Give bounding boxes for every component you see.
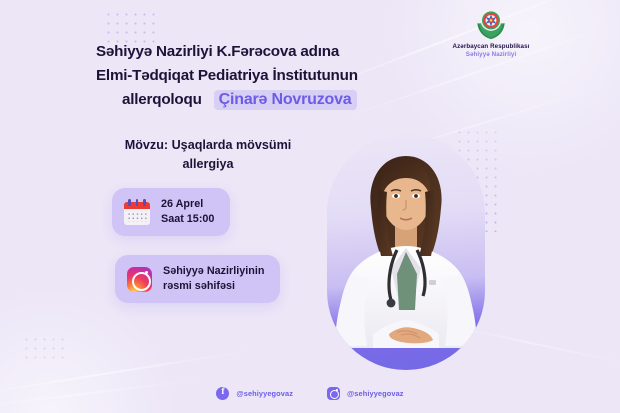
social-footer: @sehiyyegovaz @sehiyyegovaz (0, 387, 620, 400)
facebook-handle: @sehiyyegovaz (236, 389, 293, 398)
portrait-frame (327, 134, 485, 370)
facebook-icon (216, 387, 229, 400)
headline-line3-row: allerqoloquÇinarə Novruzova (96, 88, 426, 112)
date-pill-text: 26 Aprel Saat 15:00 (161, 197, 214, 227)
instagram-handle: @sehiyyegovaz (347, 389, 404, 398)
date-line2: Saat 15:00 (161, 212, 214, 227)
instagram-icon (327, 387, 340, 400)
topic-block: Mövzu: Uşaqlarda mövsümi allergiya (96, 136, 320, 174)
instagram-icon (127, 267, 152, 292)
headline-line2: Elmi-Tədqiqat Pediatriya İnstitutunun (96, 64, 426, 88)
doctor-portrait (327, 134, 485, 370)
headline-line1: Səhiyyə Nazirliyi K.Fərəcova adına (96, 40, 426, 64)
date-line1: 26 Aprel (161, 197, 214, 212)
poster-canvas: Azərbaycan Respublikası Səhiyyə Nazirliy… (0, 0, 620, 413)
topic-line2: allergiya (96, 155, 320, 174)
speaker-name: Çinarə Novruzova (214, 90, 357, 110)
calendar-icon (124, 199, 150, 225)
topic-line1: Mövzu: Uşaqlarda mövsümi (96, 136, 320, 155)
headline-line3: allerqoloqu (122, 91, 202, 108)
headline: Səhiyyə Nazirliyi K.Fərəcova adına Elmi-… (96, 40, 426, 112)
ministry-logo-line2: Səhiyyə Nazirliyi (437, 51, 545, 59)
ministry-logo-line1: Azərbaycan Respublikası (437, 43, 545, 51)
instagram-info-pill[interactable]: Səhiyyə Nazirliyinin rəsmi səhifəsi (115, 255, 280, 303)
footer-instagram[interactable]: @sehiyyegovaz (327, 387, 404, 400)
footer-facebook[interactable]: @sehiyyegovaz (216, 387, 293, 400)
azerbaijan-coat-of-arms-icon (473, 6, 509, 42)
date-info-pill[interactable]: 26 Aprel Saat 15:00 (112, 188, 230, 236)
dot-grid-pattern (22, 335, 66, 361)
instagram-line1: Səhiyyə Nazirliyinin (163, 264, 264, 279)
instagram-line2: rəsmi səhifəsi (163, 279, 264, 294)
ministry-logo: Azərbaycan Respublikası Səhiyyə Nazirliy… (437, 6, 545, 59)
instagram-pill-text: Səhiyyə Nazirliyinin rəsmi səhifəsi (163, 264, 264, 294)
